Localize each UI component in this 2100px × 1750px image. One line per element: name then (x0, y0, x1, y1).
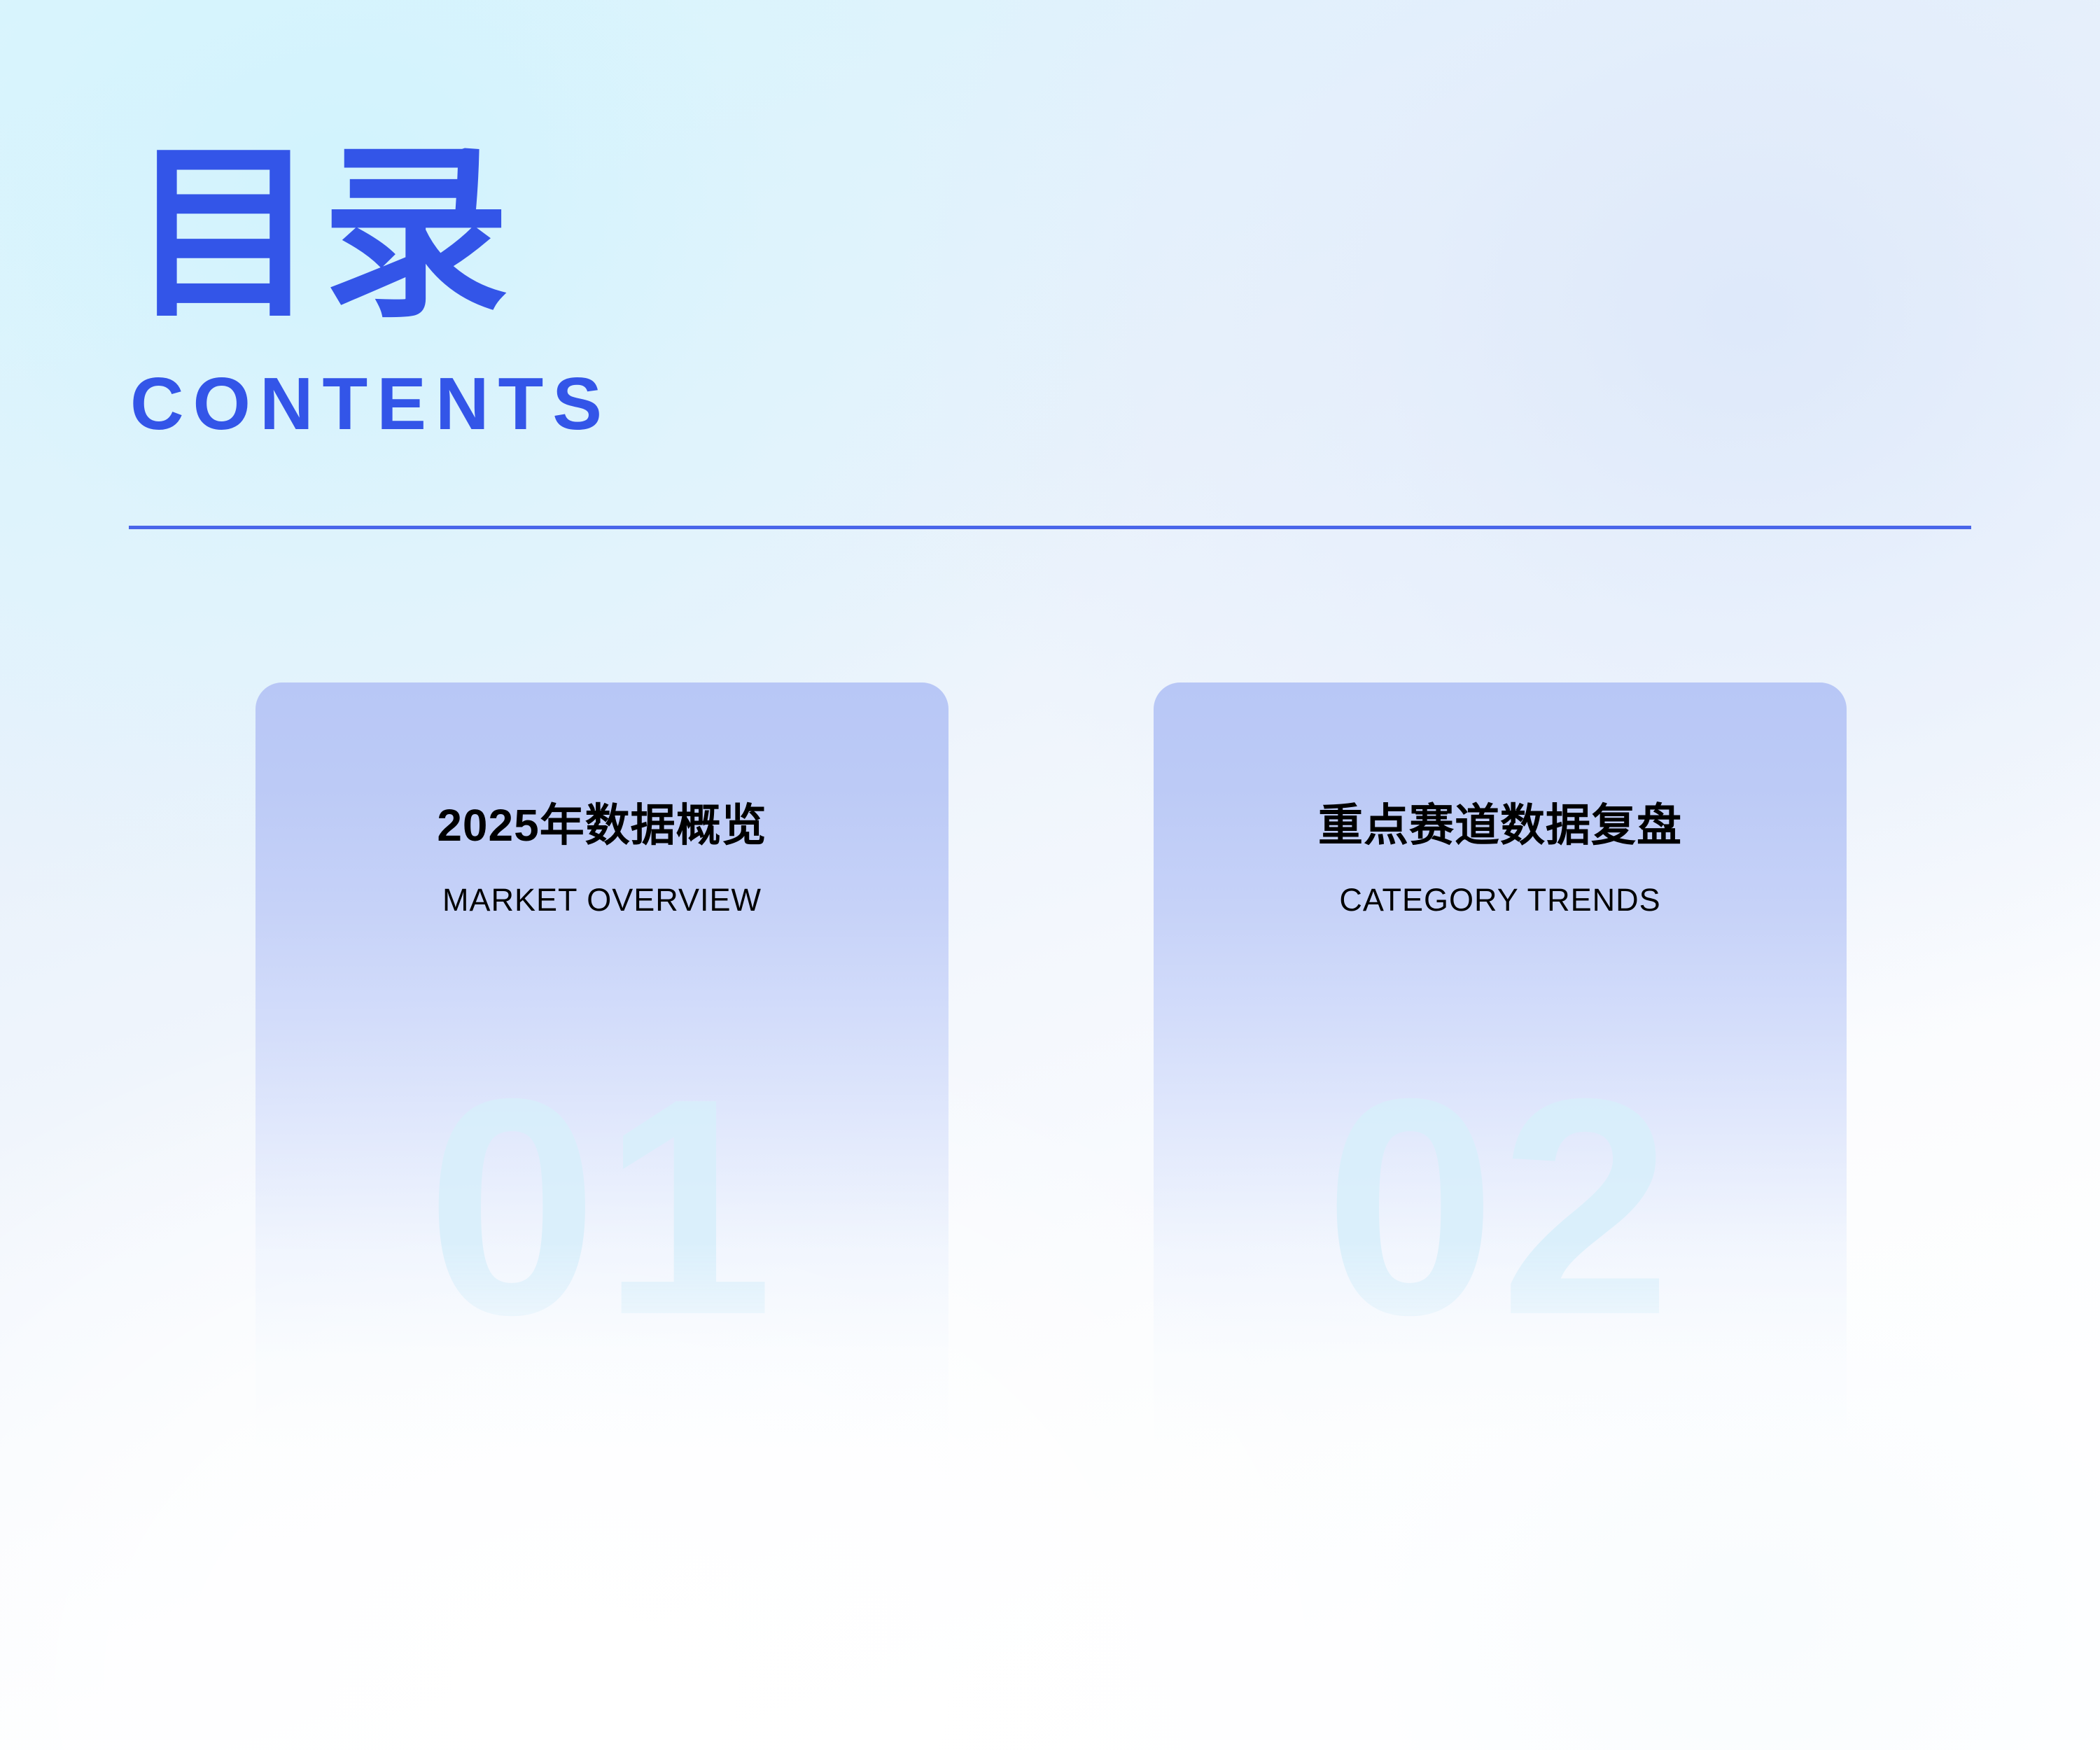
card-text-block: 重点赛道数据复盘 CATEGORY TRENDS (1154, 800, 1847, 917)
card-text-block: 2025年数据概览 MARKET OVERVIEW (255, 800, 948, 917)
page-title-chinese: 目录 (130, 140, 1978, 350)
card-subtitle-english: MARKET OVERVIEW (255, 883, 948, 918)
contents-card-01[interactable]: 01 2025年数据概览 MARKET OVERVIEW (255, 682, 948, 1543)
card-number-watermark: 02 (1154, 1053, 1847, 1361)
page-title-english: CONTENTS (130, 367, 1978, 441)
card-subtitle-english: CATEGORY TRENDS (1154, 883, 1847, 918)
slide-header: 目录 CONTENTS (130, 140, 1978, 441)
contents-card-02[interactable]: 02 重点赛道数据复盘 CATEGORY TRENDS (1154, 682, 1847, 1543)
header-divider (129, 526, 1971, 529)
contents-slide: 目录 CONTENTS 01 2025年数据概览 MARKET OVERVIEW… (0, 0, 2100, 1750)
card-number-watermark: 01 (255, 1053, 948, 1361)
card-title-chinese: 2025年数据概览 (255, 800, 948, 852)
card-title-chinese: 重点赛道数据复盘 (1154, 800, 1847, 852)
contents-card-list: 01 2025年数据概览 MARKET OVERVIEW 02 重点赛道数据复盘… (0, 682, 2100, 1557)
